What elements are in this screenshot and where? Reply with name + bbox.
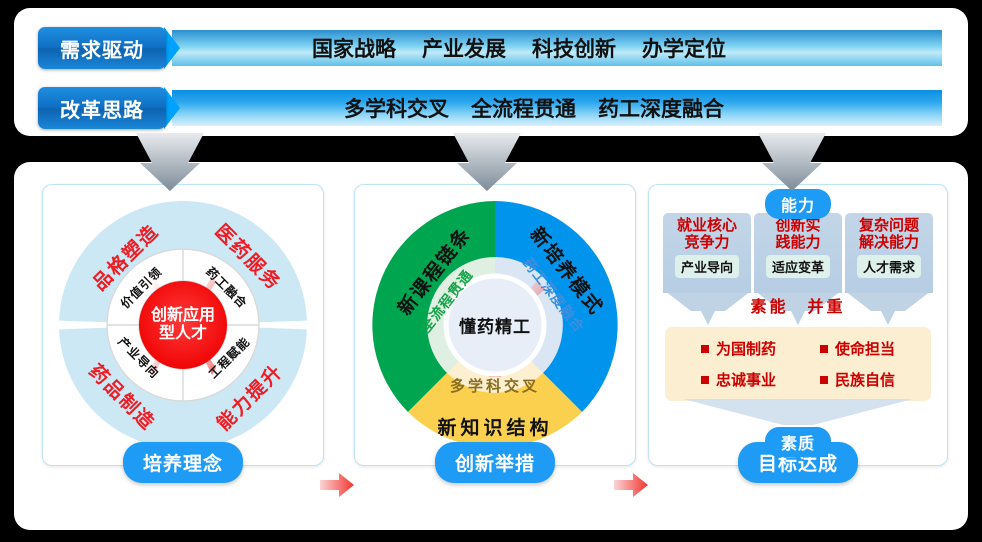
bullet-icon [820,345,828,353]
demand-driven-bar: 国家战略 产业发展 科技创新 办学定位 [172,30,942,66]
capability-title-2: 复杂问题 解决能力 [859,218,919,252]
down-arrow-icon-1 [130,133,210,191]
bottom-panels-card: 创新应用 型人才 品格塑造 医药服务 能力提升 药品制造 价值引领 药工融合 工… [14,162,968,530]
capability-title-1-line1: 创新实 [775,218,820,235]
bullet-icon [701,376,709,384]
reform-item-1: 全流程贯通 [471,93,576,123]
capability-box-1: 创新实 践能力 适应变革 [754,213,842,293]
converge-arrow-icon [683,399,913,429]
value-item-1: 使命担当 [820,338,895,359]
value-label-2: 忠诚事业 [716,369,776,390]
demand-item-2: 科技创新 [532,33,616,63]
reform-approach-bar: 多学科交叉 全流程贯通 药工深度融合 [172,90,942,126]
capability-title-0-line1: 就业核心 [677,218,737,235]
capability-title-0: 就业核心 竞争力 [677,218,737,252]
panel-cultivation-concept: 创新应用 型人才 品格塑造 医药服务 能力提升 药品制造 价值引领 药工融合 工… [42,184,324,466]
capability-title-2-line1: 复杂问题 [859,218,919,235]
demand-item-0: 国家战略 [312,33,396,63]
capability-boxes: 就业核心 竞争力 产业导向 创新实 践能力 适应变革 复杂问题 解决能力 [663,213,933,293]
demand-driven-tag-tip [164,27,180,69]
balance-text: 素能 并重 [750,293,845,317]
panel-goal-achievement: 能力 就业核心 竞争力 产业导向 创新实 践能力 适应变革 [648,184,948,466]
top-summary-card: 国家战略 产业发展 科技创新 办学定位 需求驱动 多学科交叉 全流程贯通 药工深… [14,8,968,136]
capability-sub-1: 适应变革 [766,255,830,278]
capability-title-0-line2: 竞争力 [677,235,737,252]
right-arrow-icon-2 [614,472,648,498]
wheel-1: 创新应用 型人才 品格塑造 医药服务 能力提升 药品制造 价值引领 药工融合 工… [57,199,309,451]
right-arrow-icon-1 [320,472,354,498]
value-label-3: 民族自信 [835,369,895,390]
demand-item-1: 产业发展 [422,33,506,63]
diagram-canvas: 国家战略 产业发展 科技创新 办学定位 需求驱动 多学科交叉 全流程贯通 药工深… [0,0,982,542]
reform-approach-tag-tip [164,87,180,129]
values-row-1: 忠诚事业 民族自信 [679,369,917,390]
down-arrow-icon-2 [447,133,527,191]
reform-item-0: 多学科交叉 [344,93,449,123]
capability-title-2-line2: 解决能力 [859,235,919,252]
capability-title-1-line2: 践能力 [775,235,820,252]
demand-driven-items: 国家战略 产业发展 科技创新 办学定位 [172,30,942,66]
down-arrow-icon-3 [752,133,832,191]
bullet-icon [820,376,828,384]
capability-title-1: 创新实 践能力 [775,218,820,252]
value-item-2: 忠诚事业 [701,369,776,390]
panel1-pill: 培养理念 [123,442,243,483]
demand-item-3: 办学定位 [642,33,726,63]
panel-innovation-measures: 懂药精工 新课程链条 新培养模式 新知识结构 全流程贯通 药工深度融合 多学科交… [354,184,636,466]
reform-item-2: 药工深度融合 [598,93,724,123]
value-label-1: 使命担当 [835,338,895,359]
panel3-capability-pill: 能力 [765,189,831,219]
panel2-pill: 创新举措 [435,442,555,483]
capability-sub-2: 人才需求 [857,255,921,278]
values-box: 为国制药 使命担当 忠诚事业 民族自信 [665,327,931,401]
values-row-0: 为国制药 使命担当 [679,338,917,359]
wheel-2: 懂药精工 新课程链条 新培养模式 新知识结构 全流程贯通 药工深度融合 多学科交… [369,199,621,451]
capability-sub-0: 产业导向 [675,255,739,278]
reform-approach-items: 多学科交叉 全流程贯通 药工深度融合 [172,90,942,126]
capability-box-2: 复杂问题 解决能力 人才需求 [845,213,933,293]
value-item-3: 民族自信 [820,369,895,390]
value-item-0: 为国制药 [701,338,776,359]
value-label-0: 为国制药 [716,338,776,359]
capability-box-0: 就业核心 竞争力 产业导向 [663,213,751,293]
reform-approach-tag: 改革思路 [38,87,166,129]
panel3-quality-pill: 素质 [765,427,831,457]
demand-driven-tag: 需求驱动 [38,27,166,69]
bullet-icon [701,345,709,353]
